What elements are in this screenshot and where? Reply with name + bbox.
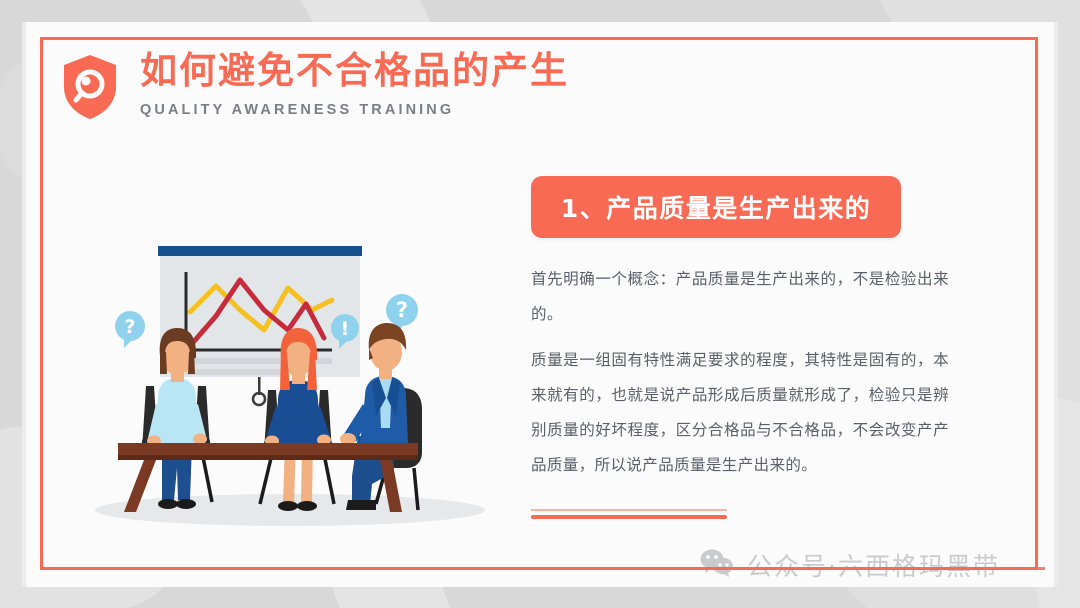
watermark: 公众号·六西格玛黑带 — [700, 547, 1000, 583]
body-text: 首先明确一个概念：产品质量是生产出来的，不是检验出来的。 质量是一组固有特性满足… — [531, 262, 949, 483]
slide-header: 如何避免不合格品的产生 QUALITY AWARENESS TRAINING — [62, 50, 569, 120]
watermark-strikethrough — [690, 567, 1045, 570]
paragraph-2: 质量是一组固有特性满足要求的程度，其特性是固有的，本来就有的，也就是说产品形成后… — [531, 343, 949, 483]
svg-text:?: ? — [396, 298, 408, 322]
section-banner: 1、产品质量是生产出来的 — [531, 176, 901, 238]
page-subtitle: QUALITY AWARENESS TRAINING — [140, 102, 569, 118]
divider-thick — [531, 515, 727, 519]
divider-group — [531, 509, 727, 519]
page-title: 如何避免不合格品的产生 — [140, 50, 569, 93]
meeting-illustration: ? ! ? — [80, 238, 500, 528]
watermark-text: 公众号·六西格玛黑带 — [747, 547, 1000, 583]
svg-text:!: ! — [341, 318, 350, 340]
divider-thin — [531, 509, 727, 511]
svg-text:?: ? — [124, 316, 135, 338]
paragraph-1: 首先明确一个概念：产品质量是生产出来的，不是检验出来的。 — [531, 262, 949, 332]
shield-search-icon — [62, 54, 118, 120]
wechat-icon — [700, 548, 734, 582]
section-banner-label: 1、产品质量是生产出来的 — [561, 189, 871, 225]
content-column: 1、产品质量是生产出来的 首先明确一个概念：产品质量是生产出来的，不是检验出来的… — [531, 176, 951, 519]
